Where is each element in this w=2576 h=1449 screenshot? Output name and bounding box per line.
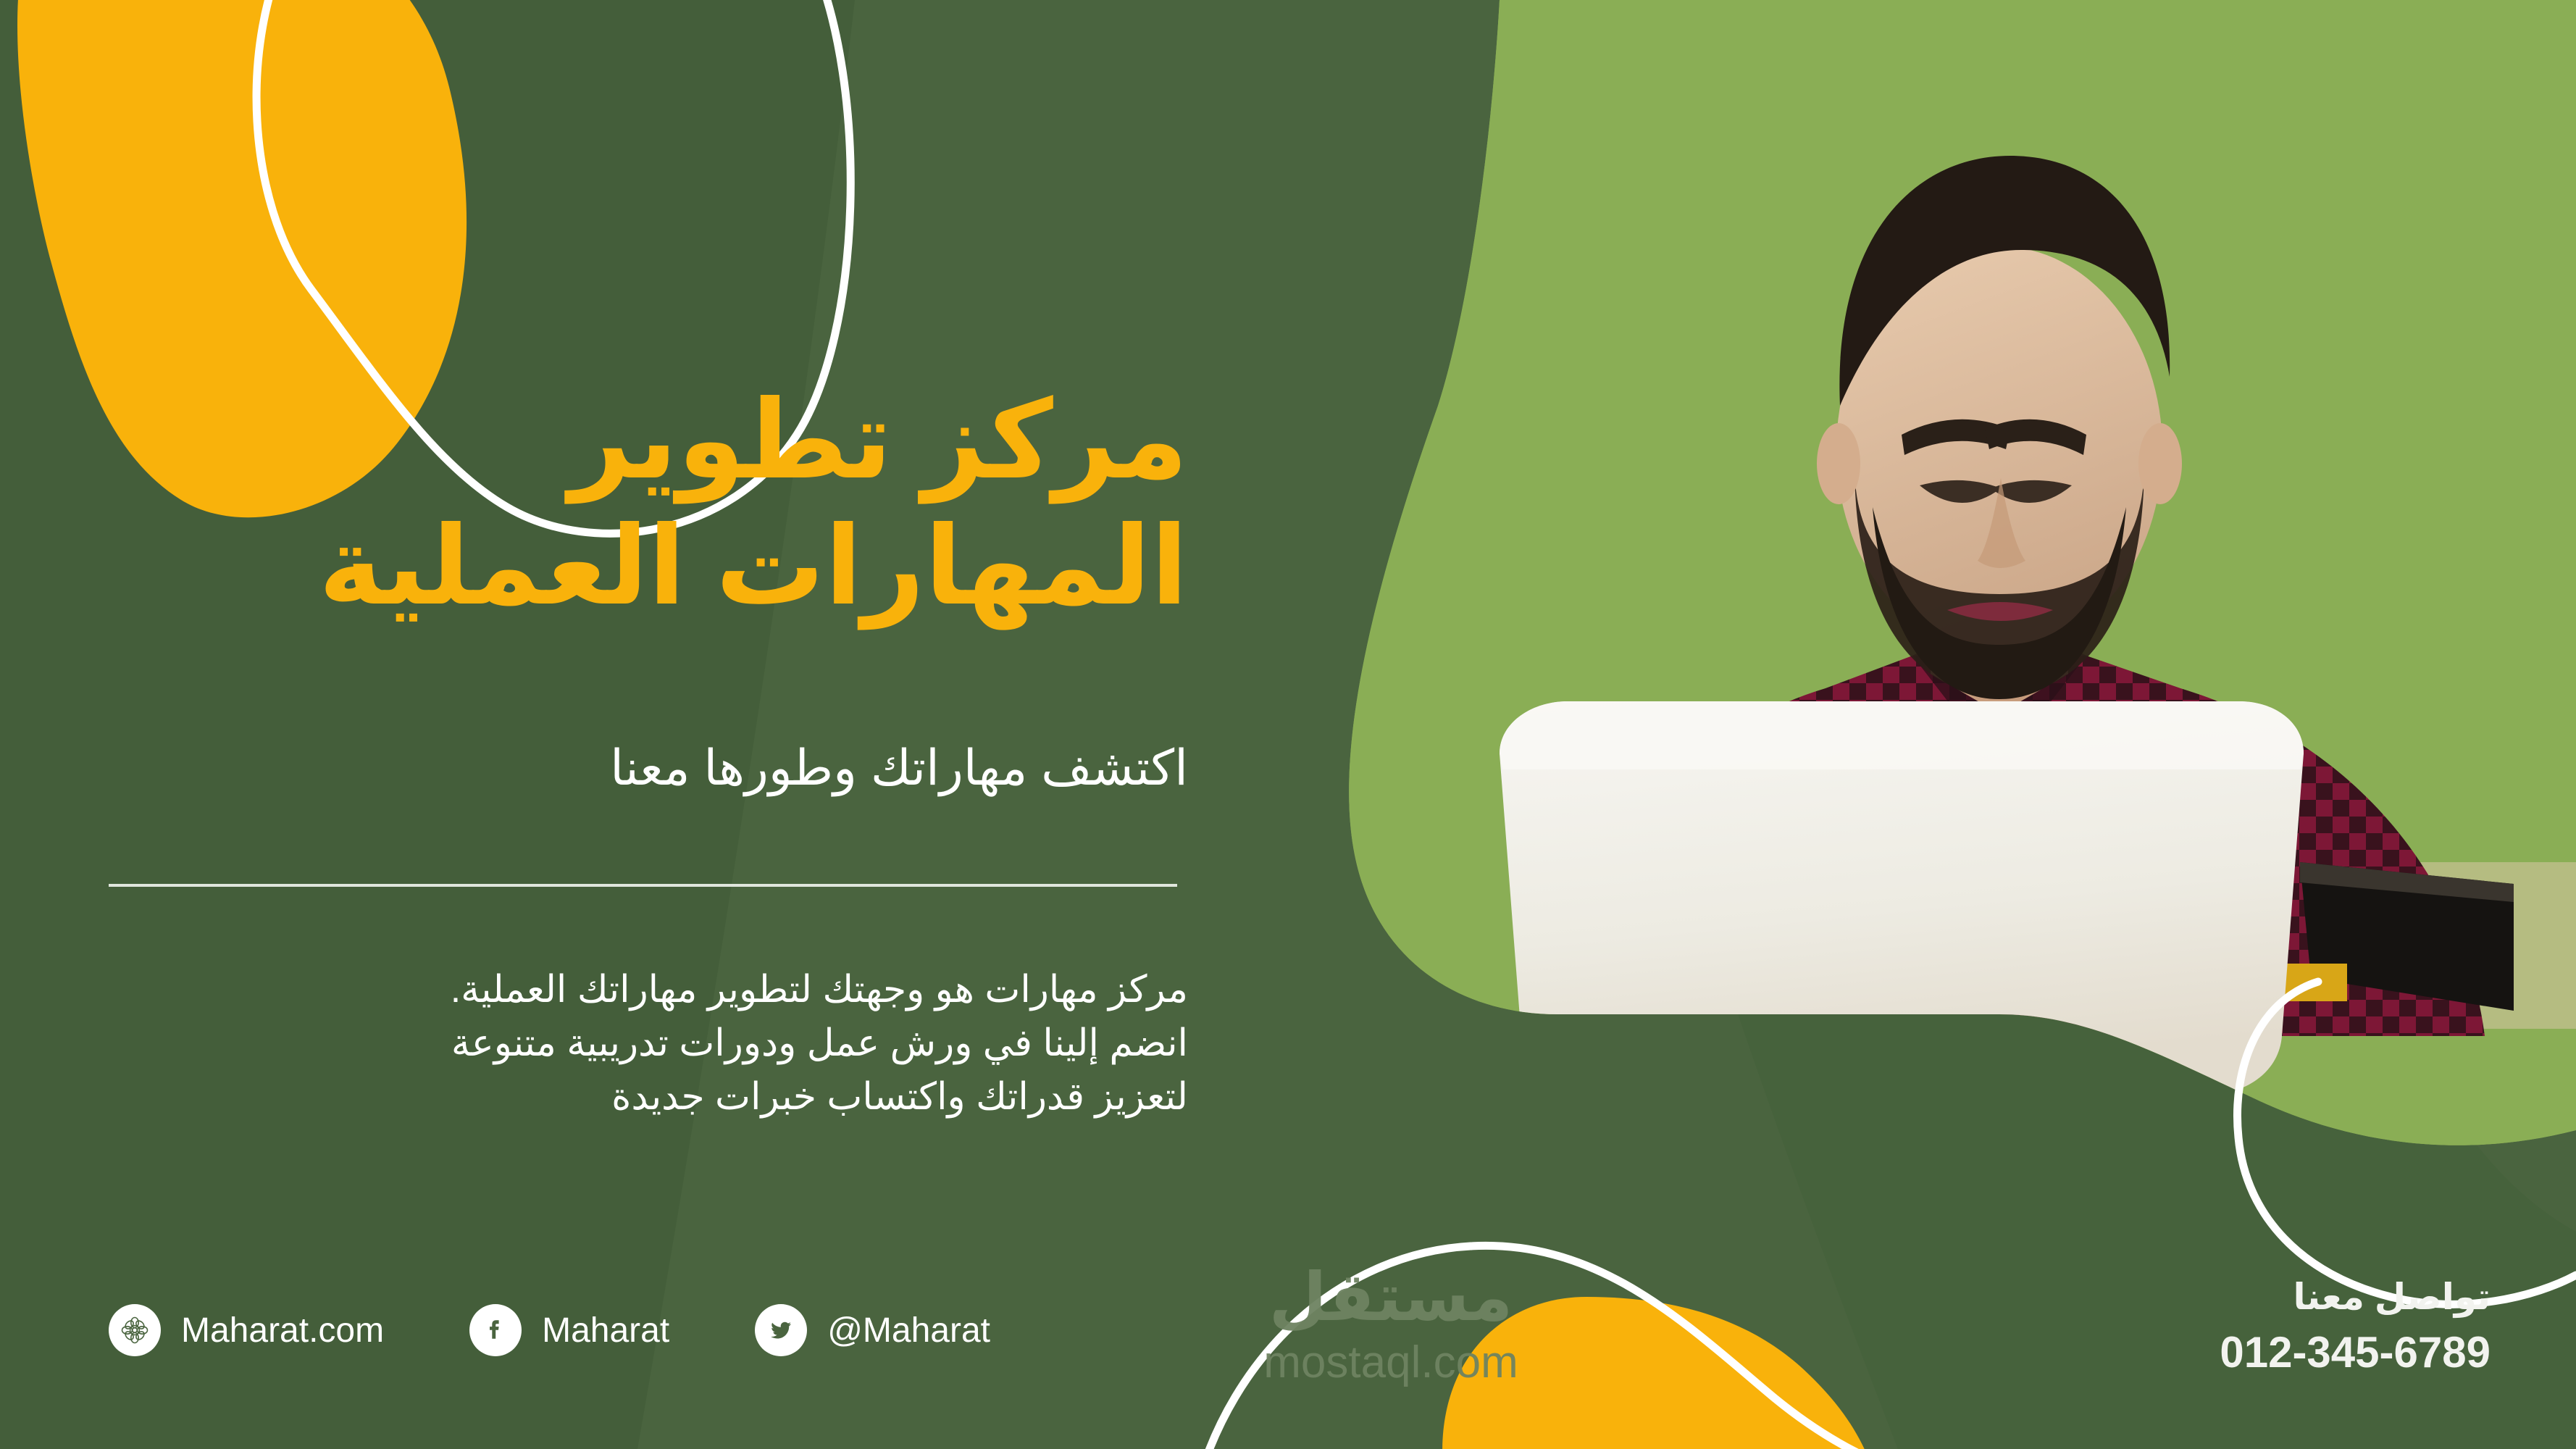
social-links-row: Maharat.com Maharat @Maharat [109,1304,990,1356]
contact-title: تواصل معنا [2220,1275,2491,1319]
contact-phone[interactable]: 012-345-6789 [2220,1329,2491,1377]
promo-banner: مستقل mostaql.com مركز تطوير المهارات ال… [0,0,2576,1449]
contact-block: تواصل معنا 012-345-6789 [2220,1275,2491,1377]
flower-logo-icon [109,1304,161,1356]
social-item-website[interactable]: Maharat.com [109,1304,384,1356]
social-label-website: Maharat.com [181,1311,384,1350]
body-paragraph: مركز مهارات هو وجهتك لتطوير مهاراتك العم… [58,964,1188,1124]
facebook-icon [469,1304,522,1356]
social-item-facebook[interactable]: Maharat [469,1304,669,1356]
social-item-twitter[interactable]: @Maharat [755,1304,990,1356]
text-content-column: مركز تطوير المهارات العملية اكتشف مهارات… [0,0,1275,1449]
divider-rule [109,884,1177,887]
social-label-twitter: @Maharat [827,1311,990,1350]
subtitle: اكتشف مهاراتك وطورها معنا [87,739,1188,798]
social-label-facebook: Maharat [542,1311,669,1350]
page-title: مركز تطوير المهارات العملية [87,377,1188,629]
twitter-icon [755,1304,807,1356]
